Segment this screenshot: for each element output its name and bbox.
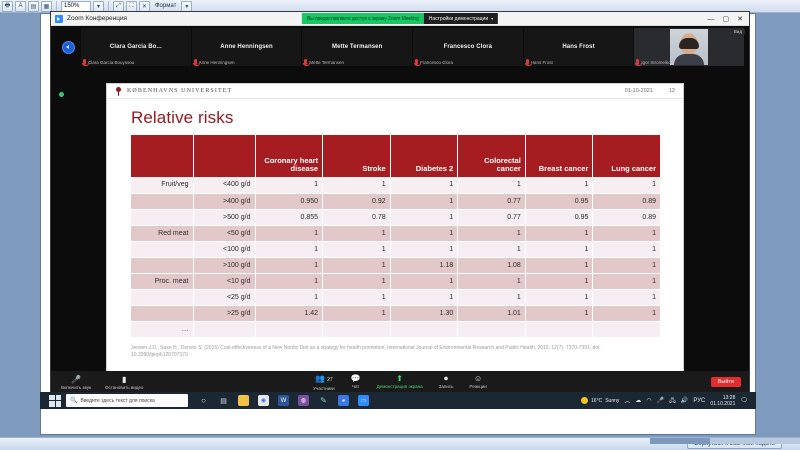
close-button[interactable]: ✕: [737, 16, 743, 23]
table-row: >400 g/d 0.950 0.92 1 0.77 0.95 0.89: [131, 193, 661, 209]
row-group: Red meat: [131, 225, 193, 241]
row-level: >25 g/d: [193, 305, 255, 321]
cell: 1: [323, 289, 391, 305]
toolbar-overflow-icon[interactable]: ▾: [181, 1, 192, 12]
search-placeholder: Введите здесь текст для поиска: [80, 398, 154, 404]
zoom-icon[interactable]: ▭: [358, 395, 369, 406]
row-group: …: [131, 321, 193, 337]
participant-tile[interactable]: Hans Frost Hans Frost: [524, 28, 634, 66]
reactions-button[interactable]: ☺ Реакции: [469, 374, 486, 391]
search-icon: 🔍: [70, 397, 77, 404]
record-button[interactable]: ⏺ Запись: [439, 374, 454, 391]
cell: 1: [593, 241, 661, 257]
chevron-up-icon[interactable]: ︿: [624, 396, 630, 405]
cell: 0.77: [458, 209, 526, 225]
print-button[interactable]: 🖶: [2, 1, 13, 12]
cell: 1: [255, 289, 323, 305]
cell: 1: [593, 305, 661, 321]
table-row: …: [131, 321, 661, 337]
network-icon[interactable]: 🖧: [669, 396, 676, 406]
zoom-level-input[interactable]: 150%: [61, 1, 91, 12]
row-group: [131, 289, 193, 305]
participant-nametag: Hans Frost: [526, 59, 553, 65]
share-settings-button[interactable]: Настройки демонстрации ▾: [424, 13, 498, 24]
microphone-muted-icon: [415, 59, 418, 65]
notifications-icon[interactable]: 🗨: [740, 397, 748, 404]
participant-nametag: Anne Henningsen: [194, 59, 235, 65]
cell: 1: [323, 305, 391, 321]
participant-name: Anne Henningsen: [220, 44, 273, 50]
chevron-left-icon: [62, 41, 75, 54]
cell: 1: [255, 273, 323, 289]
share-screen-icon: ⬆: [396, 374, 403, 383]
share-status-text: Вы предоставляете доступ к экрану Zoom M…: [302, 13, 424, 24]
cell: 1: [390, 209, 458, 225]
slide-header: KØBENHAVNS UNIVERSITET 01-10-2021 12: [107, 84, 683, 99]
participants-filmstrip: Clara Garcia Bo... Clara Garcia Bouyssou…: [51, 26, 749, 66]
cell: 1: [525, 305, 593, 321]
participant-tag-label: Francesco Clora: [420, 60, 453, 65]
application-status-bar: Вернуться к обычной подаче: [0, 437, 800, 450]
taskbar-search-input[interactable]: 🔍 Введите здесь текст для поиска: [66, 394, 188, 407]
row-group: [131, 305, 193, 321]
row-level: [193, 321, 255, 337]
cell: 1: [390, 193, 458, 209]
share-settings-label: Настройки демонстрации: [429, 16, 488, 22]
table-row: >25 g/d 1.42 1 1.30 1.01 1 1: [131, 305, 661, 321]
mic-icon[interactable]: 🎤: [657, 397, 664, 404]
cell: 1: [525, 289, 593, 305]
column-header: Colorectal cancer: [458, 135, 526, 177]
participant-name: Francesco Clora: [444, 44, 493, 50]
table-row: >100 g/d 1 1 1.18 1.08 1 1: [131, 257, 661, 273]
chat-icon: 💬: [351, 374, 361, 383]
share-indicator-dot: [59, 92, 64, 97]
cell: [525, 321, 593, 337]
unmute-button[interactable]: 🎤 Включить звук: [61, 375, 91, 390]
cell: 1.08: [458, 257, 526, 273]
cell: 1: [323, 225, 391, 241]
onedrive-icon[interactable]: ☁: [635, 397, 641, 404]
stop-video-button[interactable]: ▮ Остановить видео: [105, 375, 143, 390]
clock-date: 01.10.2021: [710, 401, 735, 407]
cell: 1.30: [390, 305, 458, 321]
cell: 1: [525, 225, 593, 241]
cell: 0.92: [323, 193, 391, 209]
row-level: <10 g/d: [193, 273, 255, 289]
participant-tile[interactable]: Mette Termansen Mette Termansen: [302, 28, 412, 66]
cell: 1: [390, 289, 458, 305]
cell: 1: [458, 289, 526, 305]
windows-taskbar: 🔍 Введите здесь текст для поиска ○ ▤ ◉ W…: [40, 392, 756, 409]
cell: 1: [458, 273, 526, 289]
fullscreen-button[interactable]: ⛶: [126, 1, 137, 12]
cortana-circle-icon[interactable]: ○: [198, 395, 209, 406]
unmute-label: Включить звук: [61, 385, 91, 390]
share-screen-label: Демонстрация экрана: [377, 384, 423, 389]
row-level: >400 g/d: [193, 193, 255, 209]
cell: 1: [593, 273, 661, 289]
cell: 1: [255, 177, 323, 193]
record-icon: ⏺: [444, 374, 448, 383]
cell: [255, 321, 323, 337]
taskbar-icons: ○ ▤ ◉ W ◍ ✎ ◕ ▭: [198, 395, 369, 406]
row-level: <25 g/d: [193, 289, 255, 305]
start-tile: [49, 401, 55, 407]
word-icon[interactable]: W: [278, 395, 289, 406]
toolbar-divider-2: [108, 1, 109, 11]
row-level: <100 g/d: [193, 241, 255, 257]
chat-button[interactable]: 💬 Чат: [351, 374, 361, 391]
volume-icon[interactable]: 🔊: [681, 397, 688, 404]
cell: 1: [390, 177, 458, 193]
cell: 0.89: [593, 209, 661, 225]
close-preview-button[interactable]: ✕: [139, 1, 150, 12]
record-label: Запись: [439, 384, 454, 389]
reactions-label: Реакции: [469, 384, 486, 389]
cell: 1: [255, 257, 323, 273]
table-row: >500 g/d 0.855 0.78 1 0.77 0.95 0.89: [131, 209, 661, 225]
microphone-muted-icon: 🎤: [71, 375, 81, 384]
cell: 1.01: [458, 305, 526, 321]
participant-nametag: Igor Stromeiko: [636, 59, 670, 65]
row-level: >500 g/d: [193, 209, 255, 225]
zoom-stage: Clara Garcia Bo... Clara Garcia Bouyssou…: [51, 26, 749, 393]
participant-nametag: Francesco Clora: [415, 59, 453, 65]
participant-tile[interactable]: Francesco Clora Francesco Clora: [413, 28, 523, 66]
start-tile: [49, 395, 55, 401]
microphone-muted-icon: [304, 59, 307, 65]
column-header: Lung cancer: [593, 135, 661, 177]
screen-share-banner: Вы предоставляете доступ к экрану Zoom M…: [302, 13, 498, 24]
cell: 0.77: [458, 193, 526, 209]
row-group: [131, 241, 193, 257]
start-tile: [56, 401, 62, 407]
scrollbar-thumb[interactable]: [650, 438, 710, 444]
teams-icon[interactable]: ◕: [338, 395, 349, 406]
minimize-button[interactable]: —: [708, 16, 715, 23]
table-header-row: Coronary heart disease Stroke Diabetes 2…: [131, 135, 661, 177]
row-group: [131, 209, 193, 225]
slide-citation: Jensen J.D., Saxe H., Denver S. (2015) C…: [131, 345, 657, 360]
participants-label: Участники: [313, 386, 335, 391]
stop-video-label: Остановить видео: [105, 385, 143, 390]
toolbar-divider: [56, 1, 57, 11]
table-row: <100 g/d 1 1 1 1 1 1: [131, 241, 661, 257]
cell: 0.855: [255, 209, 323, 225]
cell: 1: [525, 273, 593, 289]
shrink-page-button[interactable]: ⤢: [113, 1, 124, 12]
filmstrip-prev-button[interactable]: [55, 28, 81, 66]
cell: 1.42: [255, 305, 323, 321]
meeting-control-bar: 🎤 Включить звук ▮ Остановить видео 👥27 У…: [51, 371, 749, 393]
participants-icon: 👥27: [315, 374, 333, 385]
multi-page-button[interactable]: ▦: [41, 1, 52, 12]
chevron-down-icon: ▾: [491, 16, 493, 21]
cell: 1: [458, 225, 526, 241]
table-body: Fruit/veg <400 g/d 1 1 1 1 1 1: [131, 177, 661, 337]
participant-name: Mette Termansen: [332, 44, 382, 50]
participant-tile[interactable]: Anne Henningsen Anne Henningsen: [192, 28, 302, 66]
cell: [390, 321, 458, 337]
participant-tag-label: Igor Stromeiko: [641, 60, 670, 65]
cell: 1: [525, 241, 593, 257]
weather-widget[interactable]: 16°C Sunny: [581, 397, 619, 404]
column-header: Breast cancer: [525, 135, 593, 177]
video-camera-icon: ▮: [122, 375, 126, 384]
weather-temp: 16°C: [591, 398, 602, 404]
participant-tile[interactable]: Clara Garcia Bo... Clara Garcia Bouyssou: [81, 28, 191, 66]
column-header: Stroke: [323, 135, 391, 177]
avatar: [670, 29, 708, 65]
reactions-icon: ☺: [474, 374, 482, 383]
system-tray: 16°C Sunny ︿ ☁ ◠ 🎤 🖧 🔊 РУС 13:28 01.10.2…: [581, 395, 752, 407]
find-button[interactable]: A: [15, 1, 26, 12]
cell: 1: [323, 177, 391, 193]
row-level: >100 g/d: [193, 257, 255, 273]
file-explorer-icon[interactable]: [238, 395, 249, 406]
slide-page-number: 12: [669, 88, 675, 94]
window-controls: — ▢ ✕: [708, 12, 748, 26]
cell: 1: [593, 257, 661, 273]
cell: 1: [323, 241, 391, 257]
cell: 1: [255, 241, 323, 257]
cell: 1: [458, 177, 526, 193]
chat-label: Чат: [352, 384, 359, 389]
shared-screen-area: KØBENHAVNS UNIVERSITET 01-10-2021 12 Rel…: [51, 66, 749, 393]
microphone-muted-icon: [83, 59, 86, 65]
participants-button[interactable]: 👥27 Участники: [313, 374, 335, 391]
column-header: [131, 135, 193, 177]
cell: [323, 321, 391, 337]
horizontal-scrollbar[interactable]: [650, 438, 800, 444]
cell: 1: [255, 225, 323, 241]
row-group: [131, 257, 193, 273]
slide-date: 01-10-2021: [625, 88, 653, 94]
table-row: Fruit/veg <400 g/d 1 1 1 1 1 1: [131, 177, 661, 193]
participant-nametag: Clara Garcia Bouyssou: [83, 59, 134, 65]
cell: 1: [458, 241, 526, 257]
cell: 1: [323, 257, 391, 273]
cloud-icon[interactable]: ◠: [646, 397, 651, 404]
cell: 1: [525, 177, 593, 193]
zoom-app-icon: [55, 15, 63, 23]
column-header: Diabetes 2: [390, 135, 458, 177]
page-view-button[interactable]: ▤: [28, 1, 39, 12]
participant-tile-video[interactable]: Igor Stromeiko: [634, 28, 744, 66]
control-bar-center: 👥27 Участники 💬 Чат ⬆ Демонстрация экран…: [313, 374, 487, 391]
zoom-window-title: Zoom Конференция: [67, 15, 127, 22]
share-screen-button[interactable]: ⬆ Демонстрация экрана: [377, 374, 423, 391]
slide-meta: 01-10-2021 12: [625, 88, 675, 94]
cell: [458, 321, 526, 337]
slide-title: Relative risks: [107, 99, 683, 135]
row-group: Proc. meat: [131, 273, 193, 289]
language-indicator[interactable]: РУС: [693, 398, 705, 404]
column-header: [193, 135, 255, 177]
screen: 🖶 A ▤ ▦ 150% ▾ ⤢ ⛶ ✕ Формат ▾ Zoom Конфе…: [0, 0, 800, 450]
table-row: Proc. meat <10 g/d 1 1 1 1 1 1: [131, 273, 661, 289]
row-group: Fruit/veg: [131, 177, 193, 193]
cell: 1: [593, 289, 661, 305]
leave-meeting-button[interactable]: Выйти: [711, 377, 741, 387]
weather-desc: Sunny: [605, 398, 619, 404]
cell: 0.95: [525, 193, 593, 209]
table-row: Red meat <50 g/d 1 1 1 1 1 1: [131, 225, 661, 241]
table-row: <25 g/d 1 1 1 1 1 1: [131, 289, 661, 305]
zoom-dropdown-icon[interactable]: ▾: [93, 1, 104, 12]
chrome-icon[interactable]: ◉: [258, 395, 269, 406]
participant-tag-label: Hans Frost: [531, 60, 553, 65]
cell: 1: [593, 177, 661, 193]
viber-icon[interactable]: ◍: [298, 395, 309, 406]
cell: 1: [323, 273, 391, 289]
sun-icon: [581, 397, 588, 404]
participant-tag-label: Mette Termansen: [309, 60, 344, 65]
university-logo-icon: [115, 87, 122, 96]
cell: 1: [390, 273, 458, 289]
maximize-button[interactable]: ▢: [723, 16, 730, 23]
cell: 0.78: [323, 209, 391, 225]
row-group: [131, 193, 193, 209]
participant-tag-label: Clara Garcia Bouyssou: [88, 60, 134, 65]
toolbar-format-label[interactable]: Формат: [152, 3, 179, 9]
cell: 1: [390, 241, 458, 257]
microphone-muted-icon: [194, 59, 197, 65]
presentation-slide: KØBENHAVNS UNIVERSITET 01-10-2021 12 Rel…: [106, 83, 684, 389]
view-button[interactable]: Вид: [731, 28, 745, 35]
participant-name: Hans Frost: [562, 44, 594, 50]
row-level: <400 g/d: [193, 177, 255, 193]
zoom-title-bar: Zoom Конференция Вы предоставляете досту…: [51, 12, 749, 26]
control-bar-left: 🎤 Включить звук ▮ Остановить видео: [51, 375, 143, 390]
clock-widget[interactable]: 13:28 01.10.2021: [710, 395, 735, 407]
cell: 0.89: [593, 193, 661, 209]
microphone-muted-icon: [636, 59, 639, 65]
start-tile: [56, 395, 62, 401]
relative-risks-table: Coronary heart disease Stroke Diabetes 2…: [131, 135, 661, 338]
university-name: KØBENHAVNS UNIVERSITET: [127, 88, 232, 94]
microphone-muted-icon: [526, 59, 529, 65]
cell: [593, 321, 661, 337]
cell: 0.950: [255, 193, 323, 209]
participant-name: Clara Garcia Bo...: [110, 44, 162, 50]
column-header: Coronary heart disease: [255, 135, 323, 177]
cell: 1: [593, 225, 661, 241]
cell: 1: [390, 225, 458, 241]
participant-nametag: Mette Termansen: [304, 59, 344, 65]
cell: 0.95: [525, 209, 593, 225]
participant-tag-label: Anne Henningsen: [199, 60, 235, 65]
cell: 1: [525, 257, 593, 273]
pencil-icon[interactable]: ✎: [318, 395, 329, 406]
row-level: <50 g/d: [193, 225, 255, 241]
task-view-icon[interactable]: ▤: [218, 395, 229, 406]
cell: 1.18: [390, 257, 458, 273]
zoom-meeting-window: Zoom Конференция Вы предоставляете досту…: [50, 11, 750, 393]
start-button-icon[interactable]: [49, 395, 61, 407]
participants-count: 27: [327, 377, 333, 383]
